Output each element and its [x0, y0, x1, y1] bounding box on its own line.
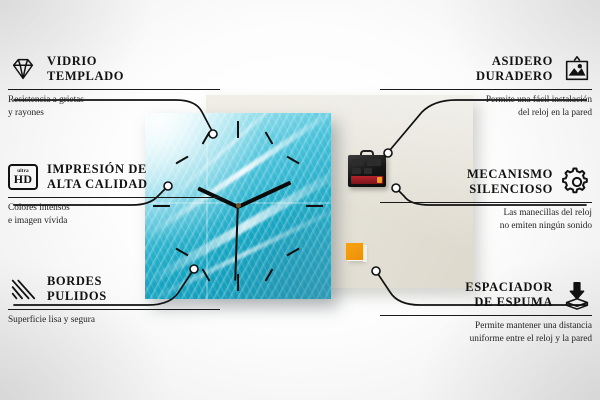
diagonal-lines-icon — [8, 274, 38, 304]
clock-center-cap — [236, 203, 241, 208]
feature-vidrio-templado: VIDRIO TEMPLADO Resistencia a grietas y … — [8, 52, 220, 119]
feature-description-line-2: e imagen vívida — [8, 215, 220, 227]
mechanism-detail — [367, 159, 381, 166]
feature-description-line-1: Resistencia a grietas — [8, 94, 220, 106]
feature-description: Superficie lisa y segura — [8, 314, 220, 326]
foam-spacer-arrow-icon — [562, 280, 592, 310]
feature-title: ASIDERO DURADERO — [476, 54, 553, 84]
feature-espaciador-de-espuma: ESPACIADOR DE ESPUMA Permite mantener un… — [380, 278, 592, 345]
feature-title-line-2: PULIDOS — [47, 289, 107, 304]
hd-badge-large-label: HD — [14, 173, 33, 185]
feature-heading: BORDES PULIDOS — [8, 272, 220, 306]
feature-divider — [8, 197, 220, 198]
mechanism-battery — [351, 176, 383, 184]
feature-description-line-2: uniforme entre el reloj y la pared — [380, 333, 592, 345]
feature-divider — [380, 202, 592, 203]
clock-tick-12 — [237, 121, 239, 138]
feature-title-line-2: TEMPLADO — [47, 69, 124, 84]
feature-title: VIDRIO TEMPLADO — [47, 54, 124, 84]
feature-title-line-1: ASIDERO — [476, 54, 553, 69]
feature-title-line-2: DE ESPUMA — [465, 295, 553, 310]
feature-description: Las manecillas del reloj no emiten ningú… — [380, 207, 592, 232]
feature-description: Resistencia a grietas y rayones — [8, 94, 220, 119]
feature-title-line-2: SILENCIOSO — [467, 182, 553, 197]
feature-impresion-alta-calidad: ultra HD IMPRESIÓN DE ALTA CALIDAD Color… — [8, 160, 220, 227]
mechanism-detail — [364, 168, 372, 174]
feature-bordes-pulidos: BORDES PULIDOS Superficie lisa y segura — [8, 272, 220, 327]
foam-spacer-pad — [346, 243, 363, 260]
feature-title-line-1: VIDRIO — [47, 54, 124, 69]
feature-title-line-2: ALTA CALIDAD — [47, 177, 148, 192]
feature-description: Permite mantener una distancia uniforme … — [380, 320, 592, 345]
feature-title: IMPRESIÓN DE ALTA CALIDAD — [47, 162, 148, 192]
feature-title-line-1: ESPACIADOR — [465, 280, 553, 295]
clock-tick-3 — [306, 205, 323, 207]
clock-tick-6 — [237, 274, 239, 291]
feature-title: BORDES PULIDOS — [47, 274, 107, 304]
feature-heading: ultra HD IMPRESIÓN DE ALTA CALIDAD — [8, 160, 220, 194]
feature-description-line-2: del reloj en la pared — [380, 107, 592, 119]
mechanism-detail — [352, 159, 364, 166]
ultra-hd-badge-icon: ultra HD — [8, 164, 38, 190]
feature-title: ESPACIADOR DE ESPUMA — [465, 280, 553, 310]
feature-title: MECANISMO SILENCIOSO — [467, 167, 553, 197]
feature-description-line-1: Permite una fácil instalación — [380, 94, 592, 106]
feature-description-line-1: Colores intensos — [8, 202, 220, 214]
feature-description: Colores intensos e imagen vívida — [8, 202, 220, 227]
feature-divider — [8, 309, 220, 310]
feature-mecanismo-silencioso: MECANISMO SILENCIOSO Las manecillas del … — [380, 165, 592, 232]
feature-heading: ASIDERO DURADERO — [380, 52, 592, 86]
feature-description-line-1: Las manecillas del reloj — [380, 207, 592, 219]
feature-description-line-2: y rayones — [8, 107, 220, 119]
feature-description-line-1: Superficie lisa y segura — [8, 314, 220, 326]
picture-frame-hanger-icon — [562, 54, 592, 84]
diamond-icon — [8, 54, 38, 84]
feature-description: Permite una fácil instalación del reloj … — [380, 94, 592, 119]
feature-divider — [8, 89, 220, 90]
feature-description-line-2: no emiten ningún sonido — [380, 220, 592, 232]
feature-heading: ESPACIADOR DE ESPUMA — [380, 278, 592, 312]
feature-divider — [380, 315, 592, 316]
feature-title-line-1: IMPRESIÓN DE — [47, 162, 148, 177]
feature-heading: MECANISMO SILENCIOSO — [380, 165, 592, 199]
feature-title-line-1: BORDES — [47, 274, 107, 289]
gear-icon — [562, 167, 592, 197]
infographic-canvas: VIDRIO TEMPLADO Resistencia a grietas y … — [0, 0, 600, 400]
feature-title-line-1: MECANISMO — [467, 167, 553, 182]
feature-asidero-duradero: ASIDERO DURADERO Permite una fácil insta… — [380, 52, 592, 119]
feature-heading: VIDRIO TEMPLADO — [8, 52, 220, 86]
feature-divider — [380, 89, 592, 90]
feature-description-line-1: Permite mantener una distancia — [380, 320, 592, 332]
feature-title-line-2: DURADERO — [476, 69, 553, 84]
mechanism-detail — [352, 168, 361, 174]
